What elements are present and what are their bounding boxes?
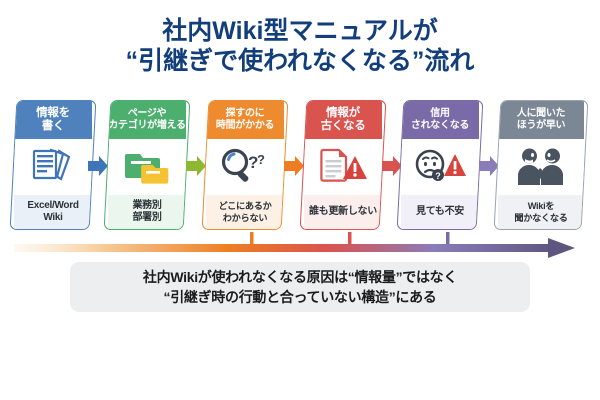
flow-step-4-header-line1: 情報が bbox=[326, 107, 360, 119]
flow-step-2-header-line2: カテゴリが増える bbox=[108, 120, 185, 131]
flow-step-4-footer-line1: 誰も更新しない bbox=[309, 206, 377, 218]
flow-step-6[interactable]: 人に聞いた ほうが早い bbox=[494, 100, 589, 230]
flow-step-3-header-line2: 時間がかかる bbox=[216, 120, 274, 131]
summary-banner-line1: 社内Wikiが使われなくなる原因は“情報量”ではなく bbox=[143, 267, 457, 287]
infographic-canvas: 社内Wiki型マニュアルが “引継ぎで使われなくなる”流れ 情報を 書く bbox=[0, 0, 600, 400]
flow-step-2-footer-line2: 部署別 bbox=[132, 212, 161, 223]
title-line-1: 社内Wiki型マニュアルが bbox=[162, 17, 437, 45]
flow-step-3-footer: どこにあるか わからない bbox=[206, 195, 284, 229]
connector-arrow-3 bbox=[284, 156, 304, 176]
flow-step-6-header-line2: ほうが早い bbox=[517, 120, 566, 131]
flow-step-2[interactable]: ページや カテゴリが増える 業務別 部署別 bbox=[104, 100, 191, 230]
flow-step-5-header-line1: 信用 bbox=[430, 108, 449, 119]
flow-step-6-footer-line1: Wikiを bbox=[528, 201, 555, 211]
flow-step-3-icon-area: ? ? bbox=[206, 139, 284, 197]
flow-step-6-header: 人に聞いた ほうが早い bbox=[498, 101, 584, 139]
two-people-talking-icon bbox=[512, 145, 570, 192]
document-warning-icon bbox=[317, 146, 369, 191]
title-line-2: “引継ぎで使われなくなる”流れ bbox=[0, 46, 600, 76]
flow-step-1[interactable]: 情報を 書く bbox=[10, 100, 97, 230]
flow-steps-row: 情報を 書く bbox=[0, 100, 600, 232]
flow-step-5[interactable]: 信用 されなくなる ? bbox=[397, 100, 484, 230]
progression-arrow bbox=[0, 232, 600, 260]
flow-step-1-icon-area bbox=[14, 139, 92, 197]
flow-step-6-icon-area bbox=[498, 139, 584, 197]
flow-step-2-footer-line1: 業務別 bbox=[132, 200, 161, 211]
flow-step-1-footer: Excel/Word Wiki bbox=[14, 195, 92, 229]
flow-step-6-footer: Wikiを 聞かなくなる bbox=[498, 195, 584, 229]
flow-step-6-footer-line2: 聞かなくなる bbox=[514, 213, 567, 223]
svg-text:?: ? bbox=[257, 152, 265, 167]
svg-text:?: ? bbox=[435, 171, 441, 181]
flow-step-5-icon-area: ? bbox=[401, 139, 479, 197]
flow-step-1-header-line2: 書く bbox=[42, 120, 64, 132]
flow-step-1-header: 情報を 書く bbox=[14, 101, 92, 139]
summary-banner: 社内Wikiが使われなくなる原因は“情報量”ではなく “引継ぎ時の行動と合ってい… bbox=[70, 262, 530, 312]
flow-step-5-header: 信用 されなくなる bbox=[401, 101, 479, 139]
page-title: 社内Wiki型マニュアルが “引継ぎで使われなくなる”流れ bbox=[0, 16, 600, 76]
flow-step-4[interactable]: 情報が 古くなる bbox=[300, 100, 387, 230]
flow-step-1-footer-line2: Wiki bbox=[43, 212, 62, 223]
flow-step-5-footer: 見ても不安 bbox=[401, 195, 479, 229]
flow-step-3-footer-line1: どこにあるか bbox=[218, 201, 271, 211]
flow-step-3-header: 探すのに 時間がかかる bbox=[206, 101, 284, 139]
connector-arrow-2 bbox=[186, 156, 206, 176]
flow-step-2-header-line1: ページや bbox=[128, 108, 167, 119]
documents-icon bbox=[29, 146, 77, 191]
flow-step-4-header: 情報が 古くなる bbox=[304, 101, 382, 139]
flow-step-6-header-line1: 人に聞いた bbox=[517, 108, 566, 119]
flow-step-1-footer-line1: Excel/Word bbox=[27, 200, 78, 211]
flow-step-3-footer-line2: わからない bbox=[223, 213, 267, 223]
flow-step-1-header-line1: 情報を bbox=[36, 107, 70, 119]
summary-banner-line2: “引継ぎ時の行動と合っていない構造”にある bbox=[164, 287, 437, 307]
connector-arrow-1 bbox=[88, 156, 108, 176]
flow-step-3-header-line1: 探すのに bbox=[226, 108, 265, 119]
flow-step-2-icon-area bbox=[108, 139, 186, 197]
worried-face-warning-icon: ? bbox=[413, 146, 467, 191]
flow-step-2-footer: 業務別 部署別 bbox=[108, 195, 186, 229]
flow-step-4-header-line2: 古くなる bbox=[321, 120, 366, 132]
flow-step-3[interactable]: 探すのに 時間がかかる ? ? どこにあるか bbox=[202, 100, 289, 230]
folders-icon bbox=[123, 146, 171, 191]
flow-step-5-footer-line1: 見ても不安 bbox=[416, 206, 464, 218]
magnifier-question-icon: ? ? bbox=[219, 146, 271, 191]
flow-step-4-icon-area bbox=[304, 139, 382, 197]
flow-step-2-header: ページや カテゴリが増える bbox=[108, 101, 186, 139]
flow-step-5-header-line2: されなくなる bbox=[411, 120, 469, 131]
flow-step-4-footer: 誰も更新しない bbox=[304, 195, 382, 229]
